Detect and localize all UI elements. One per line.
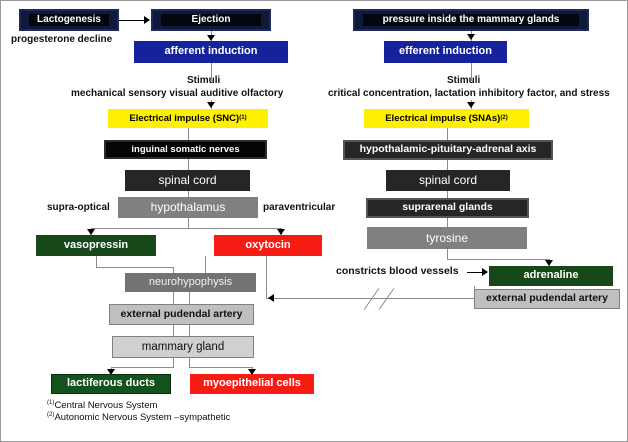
connector-hpa-spinal [447, 160, 448, 170]
node-external-pudendal-artery-right: external pudendal artery [474, 289, 620, 309]
node-pressure-mammary-glands-inner: pressure inside the mammary glands [363, 14, 579, 27]
break-mark-2 [379, 288, 395, 310]
label-constricts-blood-vessels: constricts blood vessels [336, 265, 459, 277]
label-progesterone-decline: progesterone decline [11, 34, 112, 45]
connector-tyrosine-across [447, 259, 549, 260]
node-suprarenal-glands: suprarenal glands [366, 198, 529, 218]
connector-oxytocin-branch-down [266, 256, 267, 298]
footnote-2: (2)Autonomic Nervous System –sympathetic [47, 411, 230, 423]
connector-suprarenal-tyrosine [447, 218, 448, 227]
node-tyrosine: tyrosine [367, 227, 527, 249]
node-spinal-cord-right: spinal cord [386, 170, 510, 191]
connector-tyrosine-down [447, 249, 448, 259]
arrowhead-constricts-to-adrenaline [482, 268, 488, 276]
arrowhead-stimuli-impulse-left [207, 102, 215, 108]
node-pressure-mammary-glands: pressure inside the mammary glands [353, 9, 589, 31]
node-electrical-impulse-snc: Electrical impulse (SNC)(1) [108, 109, 268, 128]
connector-hypothalamus-split-stem [188, 218, 189, 228]
node-electrical-impulse-snc-label: Electrical impulse (SNC) [129, 114, 239, 124]
label-stimuli-right-title: Stimuli [447, 75, 480, 86]
connector-vasopressin-down [96, 256, 97, 267]
label-paraventricular: paraventricular [263, 202, 335, 213]
break-mark-1 [364, 288, 380, 310]
node-inguinal-somatic-nerves: inguinal somatic nerves [104, 140, 267, 159]
connector-epa-mammary-right [189, 325, 190, 336]
node-afferent-induction: afferent induction [134, 41, 288, 63]
label-supra-optical: supra-optical [47, 202, 110, 213]
connector-impulse-inguinal [188, 128, 189, 140]
connector-spinal-suprarenal [447, 191, 448, 198]
node-ejection: Ejection [151, 9, 271, 31]
label-stimuli-right-list: critical concentration, lactation inhibi… [328, 88, 610, 99]
connector-oxytocin-down [205, 256, 206, 267]
node-electrical-impulse-snas-sup: (2) [500, 115, 507, 121]
arrowhead-stimuli-impulse-right [467, 102, 475, 108]
node-lactiferous-ducts: lactiferous ducts [51, 374, 171, 394]
node-hpa-axis: hypothalamic-pituitary-adrenal axis [343, 140, 553, 160]
node-lactogenesis-inner: Lactogenesis [29, 14, 109, 27]
footnote-1: (1)Central Nervous System [47, 399, 157, 411]
arrowhead-lactogenesis-ejection [144, 16, 150, 24]
arrowhead-pressure-efferent [467, 34, 475, 40]
node-electrical-impulse-snas: Electrical impulse (SNAs)(2) [364, 109, 529, 128]
node-lactogenesis: Lactogenesis [19, 9, 119, 31]
connector-mammary-left-stem [173, 358, 174, 367]
node-adrenaline: adrenaline [489, 266, 613, 286]
connector-impulse-hpa [447, 128, 448, 140]
diagram-canvas: Lactogenesis progesterone decline Ejecti… [0, 0, 628, 442]
connector-vasopressin-in [96, 267, 174, 268]
footnote-1-text: Central Nervous System [54, 400, 157, 411]
connector-lactogenesis-ejection [119, 20, 145, 21]
connector-mammary-left-bar [111, 367, 174, 368]
connector-neuro-epa-right [189, 292, 190, 304]
node-electrical-impulse-snas-label: Electrical impulse (SNAs) [385, 114, 500, 124]
label-stimuli-left-title: Stimuli [187, 75, 220, 86]
node-spinal-cord-left: spinal cord [125, 170, 250, 191]
connector-neuro-epa-left [173, 292, 174, 304]
label-stimuli-left-list: mechanical sensory visual auditive olfac… [71, 88, 283, 99]
node-hypothalamus: hypothalamus [118, 197, 258, 218]
connector-inguinal-spinal-left [188, 159, 189, 170]
node-myoepithelial-cells: myoepithelial cells [190, 374, 314, 394]
footnote-2-text: Autonomic Nervous System –sympathetic [54, 412, 230, 423]
node-efferent-induction: efferent induction [384, 41, 507, 63]
connector-mammary-right-bar [189, 367, 253, 368]
node-oxytocin: oxytocin [214, 235, 322, 256]
node-external-pudendal-artery-left: external pudendal artery [109, 304, 254, 325]
connector-epa-mammary-left [173, 325, 174, 336]
connector-mammary-right-stem [189, 358, 190, 367]
node-neurohypophysis: neurohypophysis [125, 273, 256, 292]
node-mammary-gland: mammary gland [112, 336, 254, 358]
connector-hypothalamus-split-bar [91, 228, 281, 229]
arrowhead-feedback [268, 294, 274, 302]
node-ejection-inner: Ejection [161, 14, 261, 27]
node-electrical-impulse-snc-sup: (1) [239, 115, 246, 121]
node-vasopressin: vasopressin [36, 235, 156, 256]
